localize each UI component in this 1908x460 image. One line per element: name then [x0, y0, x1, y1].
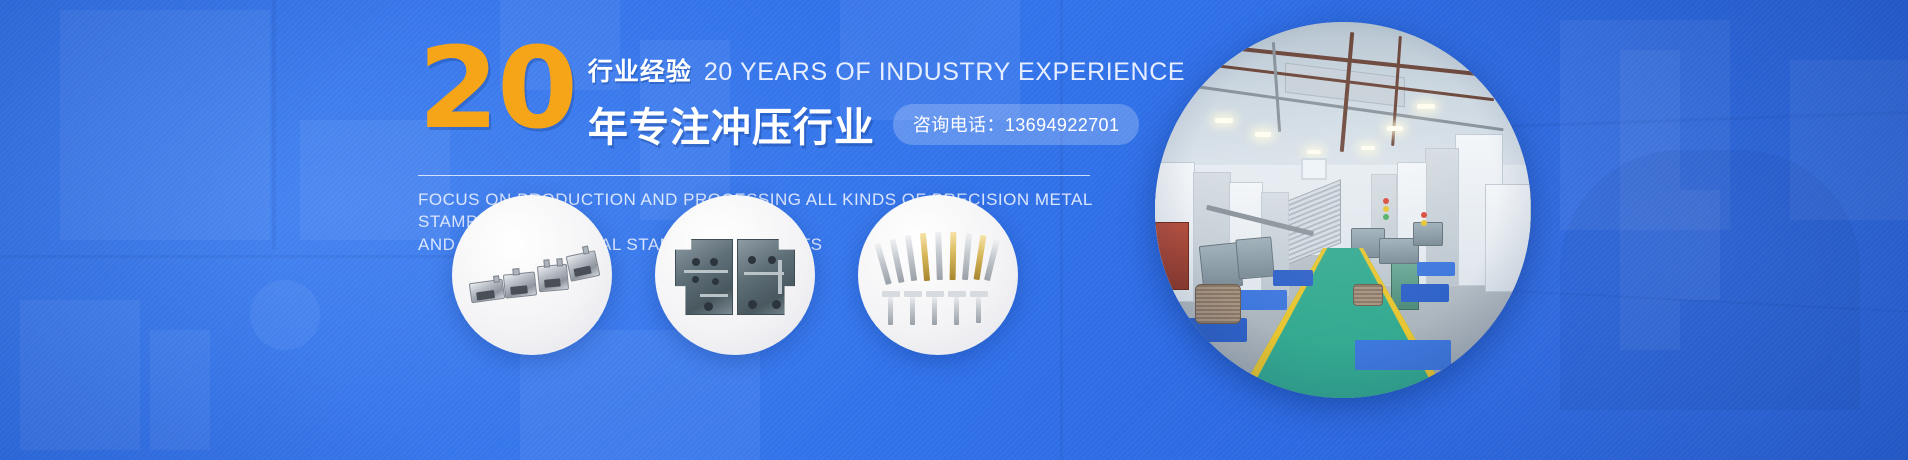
headline-line-1: 行业经验 20 YEARS OF INDUSTRY EXPERIENCE: [588, 52, 1185, 88]
years-number: 20: [418, 44, 576, 136]
en-experience-label: 20 YEARS OF INDUSTRY EXPERIENCE: [704, 58, 1185, 87]
headline-text-group: 行业经验 20 YEARS OF INDUSTRY EXPERIENCE 年专注…: [588, 44, 1185, 153]
cn-experience-label: 行业经验: [588, 52, 692, 88]
phone-badge[interactable]: 咨询电话：13694922701: [893, 104, 1140, 145]
headline-divider: [418, 175, 1090, 176]
factory-workshop-photo[interactable]: [1155, 22, 1531, 398]
product-circle-stamping-die[interactable]: [655, 195, 815, 355]
product-circle-terminals[interactable]: [858, 195, 1018, 355]
headline-line-2: 年专注冲压行业 咨询电话：13694922701: [588, 95, 1185, 153]
headline-row: 20 行业经验 20 YEARS OF INDUSTRY EXPERIENCE …: [418, 44, 1118, 153]
cn-focus-label: 年专注冲压行业: [588, 95, 875, 153]
promo-banner: 20 行业经验 20 YEARS OF INDUSTRY EXPERIENCE …: [0, 0, 1908, 460]
product-circle-connectors[interactable]: [452, 195, 612, 355]
